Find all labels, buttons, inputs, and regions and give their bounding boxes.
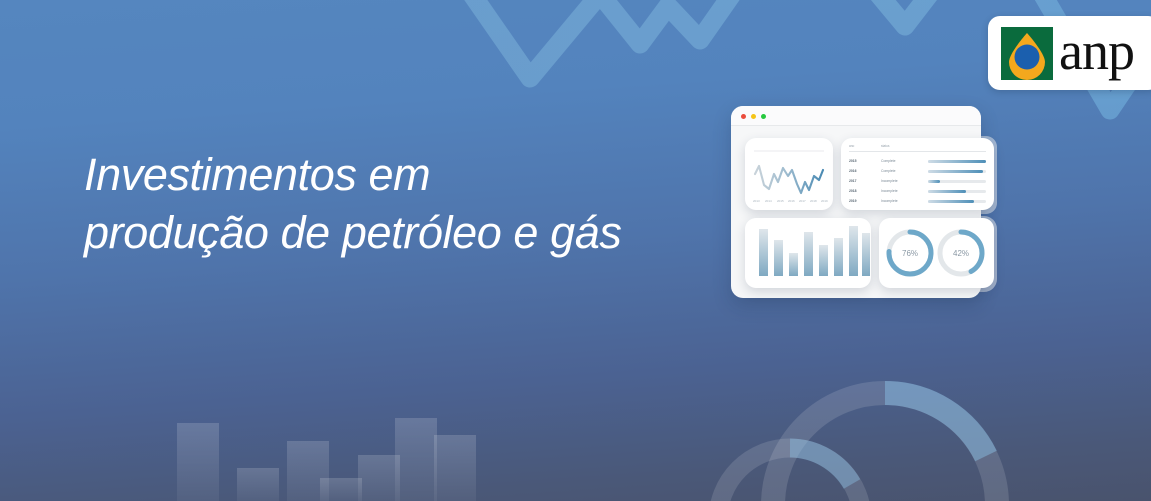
table-progress-fill <box>928 160 986 163</box>
gauge-label: 76% <box>902 249 918 258</box>
background-ring-decoration <box>718 393 997 501</box>
table-cell-status: Complete <box>881 169 896 173</box>
donut-gauges: 76% 42% <box>879 218 994 288</box>
table-col-header-status: status <box>881 144 890 148</box>
window-close-dot[interactable] <box>741 114 746 119</box>
table-cell-year: 2017 <box>849 179 857 183</box>
table-progress-fill <box>928 180 940 183</box>
table-progress-fill <box>928 190 966 193</box>
table-row[interactable]: 2017 Incomplete <box>849 179 986 184</box>
browser-title-bar <box>731 106 981 126</box>
bar-chart-bars <box>759 226 870 276</box>
svg-text:2019: 2019 <box>821 199 828 203</box>
window-maximize-dot[interactable] <box>761 114 766 119</box>
anp-droplet-mark <box>1001 27 1053 80</box>
line-chart-card: 2013 2014 2015 2016 2017 2018 2019 <box>745 138 833 210</box>
table-progress-track <box>928 160 986 163</box>
table-progress-track <box>928 190 986 193</box>
gauge-42: 42% <box>940 232 982 274</box>
table-cell-status: Incomplete <box>881 199 898 203</box>
table-cell-year: 2016 <box>849 169 857 173</box>
table-row[interactable]: 2016 Complete <box>849 169 986 174</box>
table-header-divider <box>849 151 986 152</box>
table-col-header-year: ano <box>849 144 854 148</box>
status-table-card: ano status 2015 Complete 2016 Complete 2… <box>841 138 994 210</box>
table-row[interactable]: 2019 Incomplete <box>849 199 986 204</box>
window-minimize-dot[interactable] <box>751 114 756 119</box>
table-row[interactable]: 2018 Incomplete <box>849 189 986 194</box>
bar-chart <box>745 218 871 288</box>
table-cell-year: 2015 <box>849 159 857 163</box>
svg-text:2018: 2018 <box>810 199 817 203</box>
table-cell-status: Complete <box>881 159 896 163</box>
table-cell-year: 2018 <box>849 189 857 193</box>
gauge-card: 76% 42% <box>879 218 994 288</box>
table-progress-track <box>928 200 986 203</box>
table-cell-year: 2019 <box>849 199 857 203</box>
svg-text:2015: 2015 <box>777 199 784 203</box>
line-chart-x-labels: 2013 2014 2015 2016 2017 2018 2019 <box>753 199 828 203</box>
anp-wordmark: anp <box>1059 24 1134 78</box>
bar-chart-card <box>745 218 871 288</box>
table-progress-fill <box>928 200 974 203</box>
line-chart: 2013 2014 2015 2016 2017 2018 2019 <box>745 138 833 210</box>
gauge-76: 76% <box>889 232 931 274</box>
background-bar-chart-decoration <box>177 418 476 501</box>
page-title: Investimentos em produção de petróleo e … <box>84 146 724 262</box>
anp-logo: anp <box>988 16 1151 90</box>
table-progress-track <box>928 180 986 183</box>
svg-text:2017: 2017 <box>799 199 806 203</box>
table-cell-status: Incomplete <box>881 179 898 183</box>
svg-text:2013: 2013 <box>753 199 760 203</box>
svg-text:2016: 2016 <box>788 199 795 203</box>
table-progress-track <box>928 170 986 173</box>
banner-root: Investimentos em produção de petróleo e … <box>0 0 1151 501</box>
gauge-label: 42% <box>953 249 969 258</box>
table-cell-status: Incomplete <box>881 189 898 193</box>
dashboard-illustration: 2013 2014 2015 2016 2017 2018 2019 ano s… <box>731 106 1001 302</box>
svg-text:2014: 2014 <box>765 199 772 203</box>
table-row[interactable]: 2015 Complete <box>849 159 986 164</box>
table-progress-fill <box>928 170 983 173</box>
